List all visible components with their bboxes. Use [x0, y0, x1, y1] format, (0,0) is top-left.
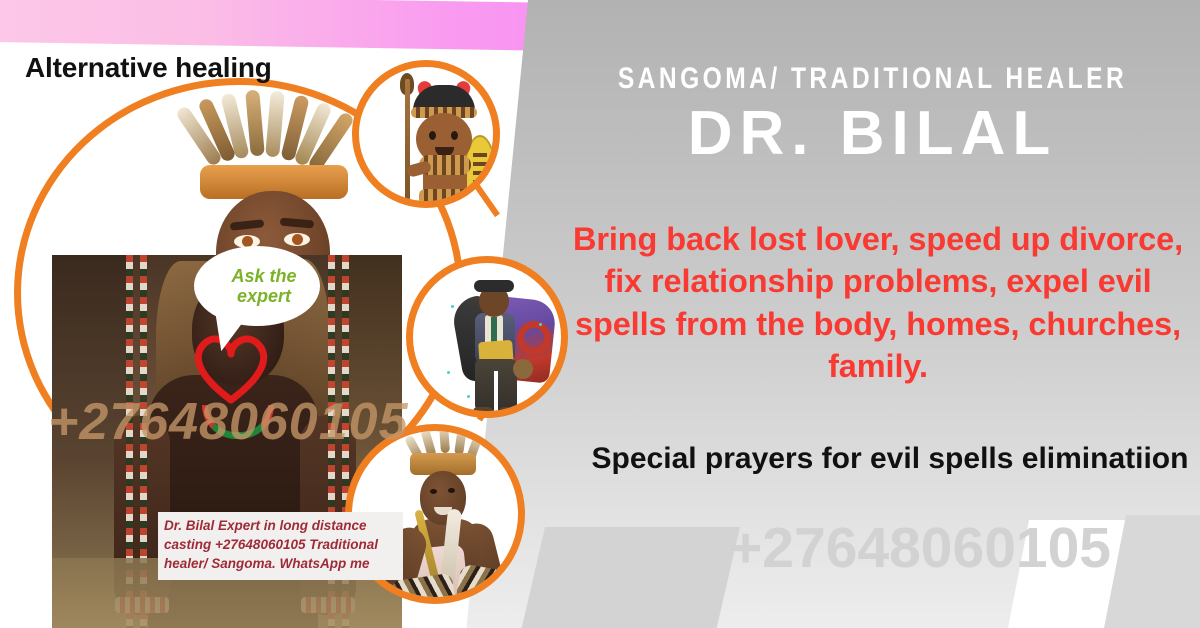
speech-bubble: Ask the expert — [196, 248, 318, 324]
special-offer-text: Special prayers for evil spells eliminat… — [590, 440, 1190, 478]
caption-line-3: healer/ Sangoma. WhatsApp me — [164, 554, 397, 573]
watermark-phone-left: +27648060105 — [48, 392, 409, 452]
poster-canvas: Alternative healing — [0, 0, 1200, 628]
services-text: Bring back lost lover, speed up divorce,… — [564, 218, 1192, 387]
decor-bar-pink — [0, 0, 605, 52]
page-title: Alternative healing — [25, 52, 272, 84]
kicker-text: SANGOMA/ TRADITIONAL HEALER — [616, 62, 1129, 96]
circle-zulu-warrior-cartoon — [352, 60, 500, 208]
watermark-phone-right: +27648060105 — [640, 520, 1200, 577]
speech-bubble-label: Ask the expert — [196, 266, 318, 306]
photo-caption: Dr. Bilal Expert in long distance castin… — [158, 512, 403, 580]
circle-traditional-attire-man — [406, 256, 568, 418]
right-content-column: SANGOMA/ TRADITIONAL HEALER DR. BILAL Br… — [560, 0, 1200, 628]
brand-name: DR. BILAL — [560, 103, 1185, 165]
caption-line-1: Dr. Bilal Expert in long distance — [164, 516, 397, 535]
caption-line-2: casting +27648060105 Traditional — [164, 535, 397, 554]
